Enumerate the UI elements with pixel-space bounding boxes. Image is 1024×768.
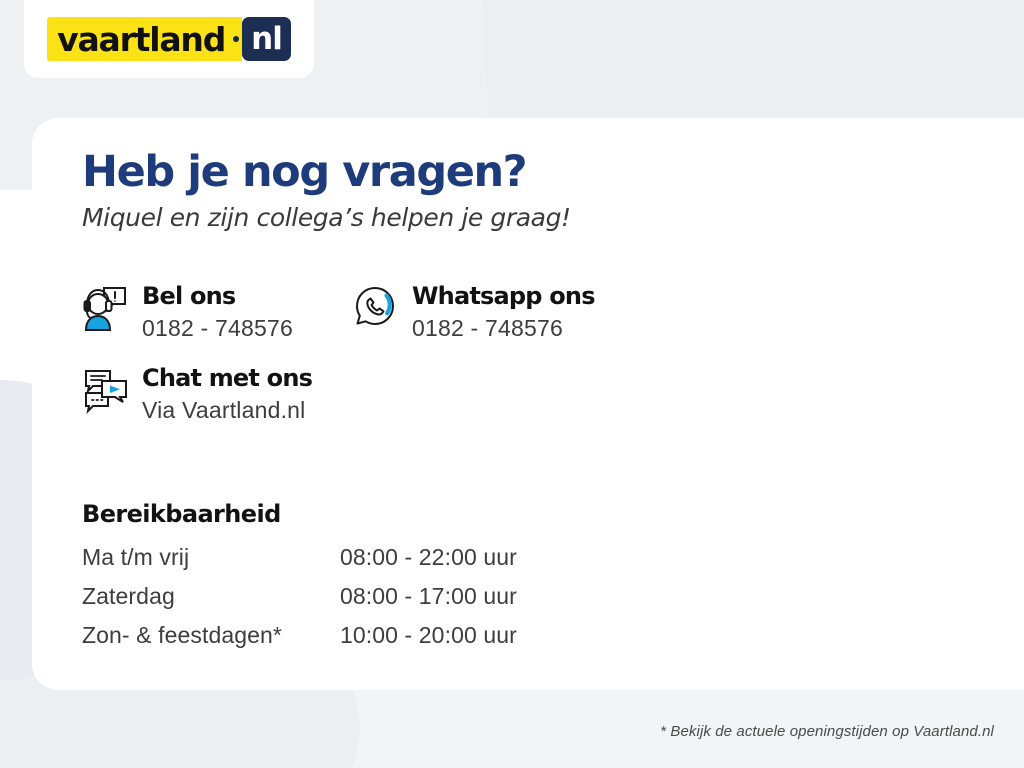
vaartland-logo[interactable]: vaartland nl [47, 17, 291, 61]
availability-hours: 08:00 - 17:00 uur [340, 583, 552, 622]
contact-value[interactable]: Via Vaartland.nl [142, 397, 312, 425]
headset-person-icon [82, 284, 128, 332]
logo-separator-dot-icon [233, 17, 242, 61]
whatsapp-icon [352, 284, 398, 332]
brand-logo-card[interactable]: vaartland nl [24, 0, 314, 78]
table-row: Zon- & feestdagen* 10:00 - 20:00 uur [82, 622, 552, 661]
contact-row-2: Chat met ons Via Vaartland.nl [82, 364, 642, 424]
contact-title: Bel ons [142, 283, 293, 311]
contact-title: Chat met ons [142, 365, 312, 393]
availability-section: Bereikbaarheid Ma t/m vrij 08:00 - 22:00… [82, 500, 582, 661]
header-block: Heb je nog vragen? Miquel en zijn colleg… [82, 150, 642, 232]
footnote-text: * Bekijk de actuele openingstijden op Va… [660, 723, 994, 740]
contact-text: Chat met ons Via Vaartland.nl [142, 364, 312, 424]
contact-method-whatsapp-ons[interactable]: Whatsapp ons 0182 - 748576 [352, 282, 632, 342]
logo-wordmark: vaartland [47, 17, 233, 61]
contact-row-1: Bel ons 0182 - 748576 Whatsapp ons 0182 … [82, 282, 642, 342]
contact-methods: Bel ons 0182 - 748576 Whatsapp ons 0182 … [82, 282, 642, 424]
contact-text: Bel ons 0182 - 748576 [142, 282, 293, 342]
contact-method-chat-met-ons[interactable]: Chat met ons Via Vaartland.nl [82, 364, 352, 424]
logo-tld: nl [242, 17, 291, 61]
chat-bubbles-icon [82, 366, 128, 414]
availability-hours: 08:00 - 22:00 uur [340, 544, 552, 583]
contact-text: Whatsapp ons 0182 - 748576 [412, 282, 595, 342]
availability-title: Bereikbaarheid [82, 500, 582, 528]
table-row: Ma t/m vrij 08:00 - 22:00 uur [82, 544, 552, 583]
contact-method-bel-ons[interactable]: Bel ons 0182 - 748576 [82, 282, 352, 342]
availability-day: Zaterdag [82, 583, 340, 622]
table-row: Zaterdag 08:00 - 17:00 uur [82, 583, 552, 622]
contact-value[interactable]: 0182 - 748576 [142, 315, 293, 343]
page-title: Heb je nog vragen? [82, 150, 642, 195]
availability-day: Ma t/m vrij [82, 544, 340, 583]
availability-hours: 10:00 - 20:00 uur [340, 622, 552, 661]
page-subtitle: Miquel en zijn collega’s helpen je graag… [82, 203, 642, 232]
contact-title: Whatsapp ons [412, 283, 595, 311]
availability-day: Zon- & feestdagen* [82, 622, 340, 661]
contact-value[interactable]: 0182 - 748576 [412, 315, 595, 343]
availability-table: Ma t/m vrij 08:00 - 22:00 uur Zaterdag 0… [82, 544, 552, 661]
